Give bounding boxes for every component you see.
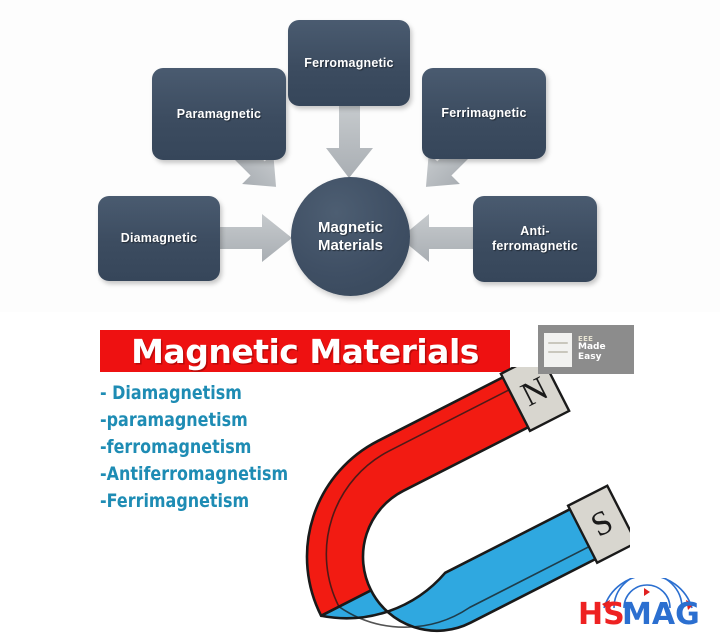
node-antiferromagnetic-label: Anti- ferromagnetic xyxy=(492,224,578,254)
center-node-line1: Magnetic xyxy=(318,219,383,236)
hsmag-logo-part2: MAG xyxy=(622,597,700,630)
node-paramagnetic[interactable]: Paramagnetic xyxy=(152,68,286,160)
node-ferrimagnetic[interactable]: Ferrimagnetic xyxy=(422,68,546,159)
arrow-ferromagnetic-to-center xyxy=(326,106,373,178)
arrow-diamagnetic-to-center xyxy=(218,214,292,262)
node-ferrimagnetic-label: Ferrimagnetic xyxy=(441,106,526,121)
node-antiferromagnetic-line2: ferromagnetic xyxy=(492,239,578,253)
magnetic-materials-diagram: Paramagnetic Ferromagnetic Ferrimagnetic… xyxy=(0,0,720,312)
node-ferromagnetic[interactable]: Ferromagnetic xyxy=(288,20,410,106)
node-diamagnetic-label: Diamagnetic xyxy=(121,231,198,246)
center-node-line2: Materials xyxy=(318,237,383,254)
poster-page: Paramagnetic Ferromagnetic Ferrimagnetic… xyxy=(0,0,720,639)
node-antiferromagnetic[interactable]: Anti- ferromagnetic xyxy=(473,196,597,282)
hsmag-watermark-logo: HS MAG xyxy=(570,578,710,630)
arrow-antiferromagnetic-to-center xyxy=(400,214,473,262)
poster-title: Magnetic Materials xyxy=(131,332,479,371)
node-antiferromagnetic-line1: Anti- xyxy=(520,224,549,238)
node-diamagnetic[interactable]: Diamagnetic xyxy=(98,196,220,281)
poster-title-banner: Magnetic Materials xyxy=(100,330,510,372)
center-node-label: Magnetic Materials xyxy=(318,219,383,255)
eee-logo-mark-icon xyxy=(544,333,572,367)
eee-made-easy-logo: EEE Made Easy xyxy=(538,325,634,374)
eee-logo-line2: Made Easy xyxy=(578,343,628,363)
hsmag-logo-part1: HS xyxy=(578,597,625,630)
node-ferromagnetic-label: Ferromagnetic xyxy=(304,56,393,71)
eee-logo-text: EEE Made Easy xyxy=(578,336,628,363)
node-paramagnetic-label: Paramagnetic xyxy=(177,107,261,122)
center-node-magnetic-materials[interactable]: Magnetic Materials xyxy=(291,177,410,296)
